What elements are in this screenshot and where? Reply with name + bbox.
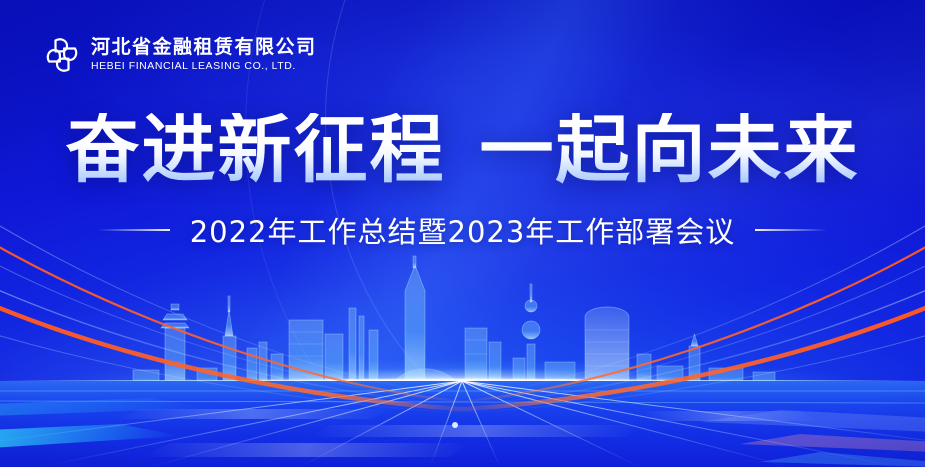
conference-banner: 河北省金融租赁有限公司 HEBEI FINANCIAL LEASING CO.,… (0, 0, 925, 467)
headline-part-2: 一起向未来 (480, 107, 860, 193)
decorative-dash-left (98, 229, 170, 231)
logo-company-name-cn: 河北省金融租赁有限公司 (91, 38, 317, 57)
pinwheel-logo-icon (42, 33, 82, 77)
decorative-dash-right (755, 229, 827, 231)
subtitle-text: 2022年工作总结暨2023年工作部署会议 (190, 209, 736, 251)
company-logo[interactable]: 河北省金融租赁有限公司 HEBEI FINANCIAL LEASING CO.,… (42, 33, 317, 77)
logo-company-name-en: HEBEI FINANCIAL LEASING CO., LTD. (91, 61, 317, 72)
subtitle-row: 2022年工作总结暨2023年工作部署会议 (0, 209, 925, 251)
headline: 奋进新征程一起向未来 (0, 113, 925, 187)
logo-text-block: 河北省金融租赁有限公司 HEBEI FINANCIAL LEASING CO.,… (91, 38, 317, 72)
headline-part-1: 奋进新征程 (66, 107, 446, 193)
